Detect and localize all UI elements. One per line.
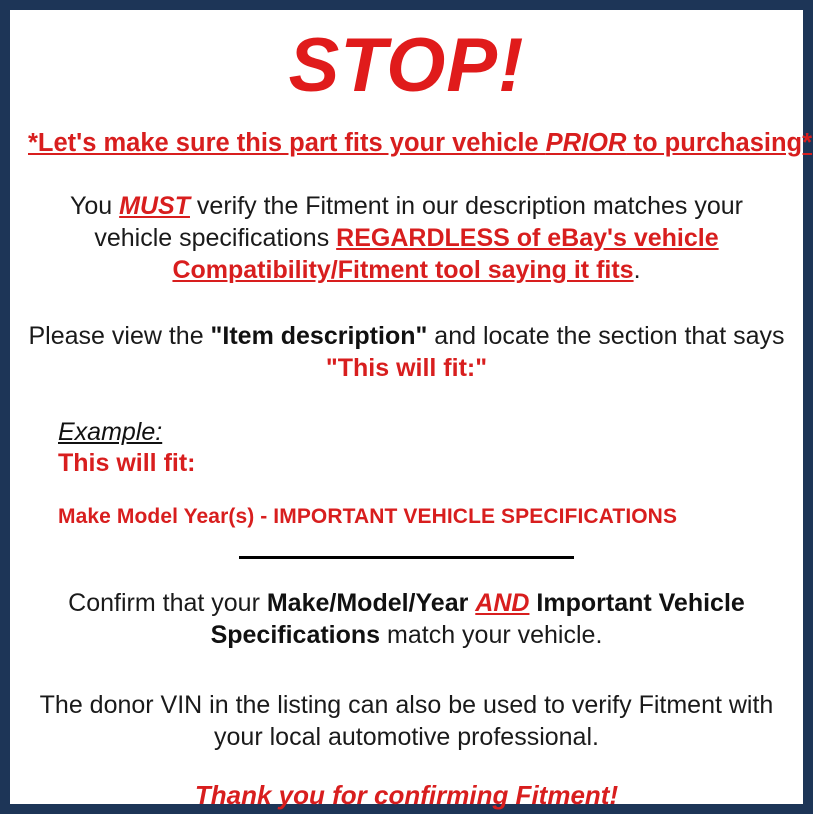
must-emphasis: MUST [119,192,190,220]
divider [28,530,785,559]
itemdesc-text-part2: and locate the section that says [427,322,784,350]
make-model-year-emphasis: Make/Model/Year [267,589,468,617]
item-description-paragraph: Please view the "Item description" and l… [29,286,785,384]
example-block: Example: This will fit: Make Model Year(… [28,384,785,530]
vin-paragraph: The donor VIN in the listing can also be… [29,651,785,753]
page-title: STOP! [28,14,785,108]
subtitle-banner: *Let's make sure this part fits your veh… [28,108,785,158]
confirm-text-part2: match your vehicle. [380,621,602,649]
must-text-part1: You [70,192,119,220]
example-label: Example: [58,418,162,447]
subtitle-text-part2: to purchasing* [626,129,812,157]
must-verify-paragraph: You MUST verify the Fitment in our descr… [29,158,785,286]
item-description-emphasis: "Item description" [211,322,428,350]
confirm-paragraph: Confirm that your Make/Model/Year AND Im… [29,559,785,651]
must-text-part3: . [634,256,641,284]
itemdesc-text-part1: Please view the [29,322,211,350]
this-will-fit-emphasis: "This will fit:" [326,354,487,382]
and-emphasis: AND [475,589,529,617]
example-spec-line: Make Model Year(s) - IMPORTANT VEHICLE S… [58,478,785,530]
confirm-text-part1: Confirm that your [68,589,267,617]
example-fit-heading: This will fit: [58,447,785,478]
subtitle-emphasis-prior: PRIOR [546,129,627,157]
thank-you-line: Thank you for confirming Fitment! [28,753,785,811]
notice-content: STOP! *Let's make sure this part fits yo… [10,10,803,804]
subtitle-text-part1: *Let's make sure this part fits your veh… [28,129,546,157]
fitment-notice-card: STOP! *Let's make sure this part fits yo… [0,0,813,814]
divider-rule [239,556,574,559]
